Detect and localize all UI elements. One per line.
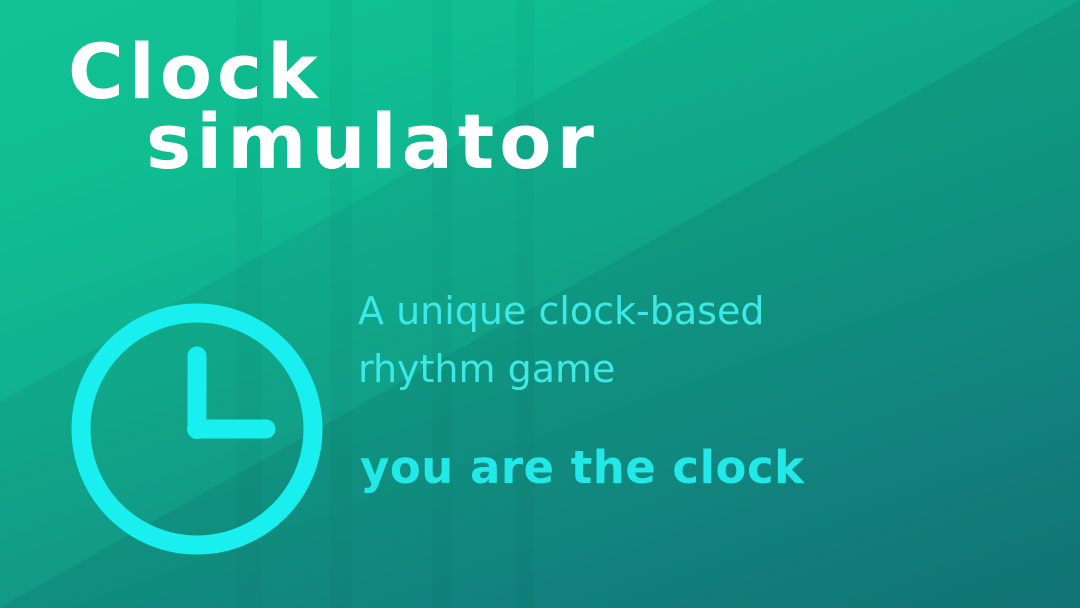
long-shadow-band-2 <box>330 0 352 608</box>
subtitle-line-1: A unique clock-based <box>358 283 878 341</box>
clock-icon <box>62 294 332 564</box>
subtitle-line-2: rhythm game <box>358 341 878 399</box>
page-title-line-simulator: simulator <box>146 104 599 180</box>
subtitle: A unique clock-based rhythm game <box>358 283 878 399</box>
promo-banner: Clock simulator A unique clock-based rhy… <box>0 0 1080 608</box>
tagline: you are the clock <box>360 441 805 494</box>
